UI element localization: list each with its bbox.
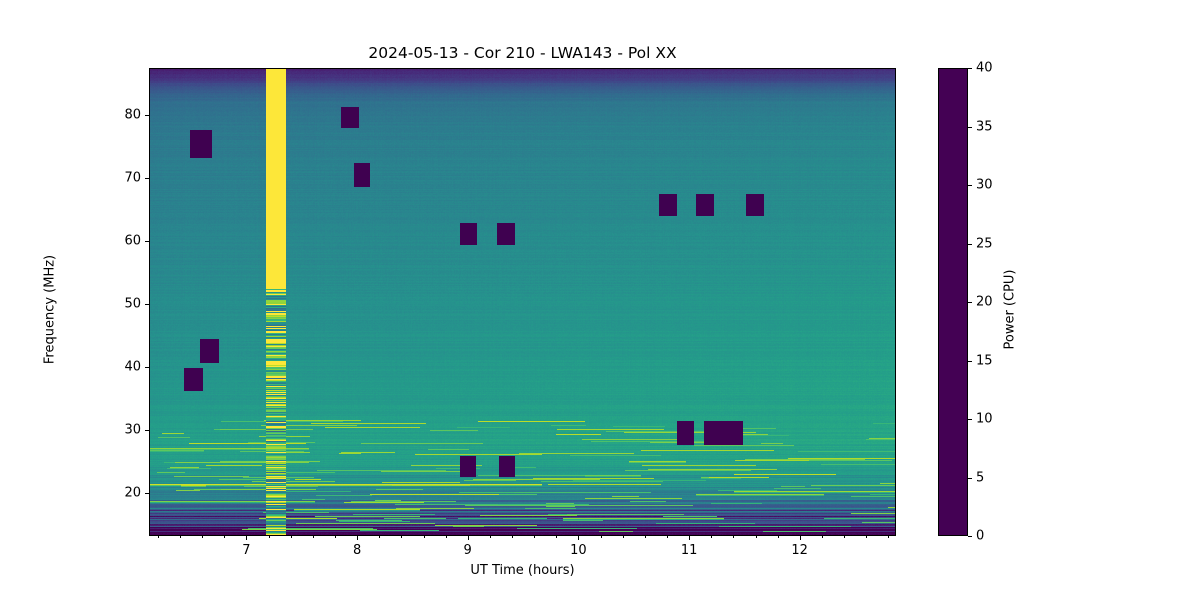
- x-minor-tick-mark: [291, 536, 292, 538]
- heatmap-image: [150, 69, 896, 536]
- x-minor-tick-mark: [335, 536, 336, 538]
- y-tick-mark: [145, 304, 149, 305]
- colorbar-tick-label: 15: [976, 353, 993, 368]
- y-tick-label: 60: [124, 234, 141, 249]
- x-minor-tick-mark: [446, 536, 447, 538]
- colorbar-tick-mark: [968, 478, 972, 479]
- y-tick-label: 30: [124, 423, 141, 438]
- y-tick-mark: [145, 115, 149, 116]
- y-tick-label: 80: [124, 108, 141, 123]
- x-minor-tick-mark: [357, 536, 358, 538]
- y-tick-label: 40: [124, 360, 141, 375]
- x-minor-tick-mark: [711, 536, 712, 538]
- colorbar-tick-mark: [968, 361, 972, 362]
- x-tick-label: 11: [681, 543, 698, 558]
- x-minor-tick-mark: [224, 536, 225, 538]
- x-minor-tick-mark: [269, 536, 270, 538]
- x-minor-tick-mark: [313, 536, 314, 538]
- colorbar-gradient: [939, 69, 968, 536]
- y-tick-mark: [145, 178, 149, 179]
- x-tick-label: 7: [242, 543, 250, 558]
- figure-canvas: 2024-05-13 - Cor 210 - LWA143 - Pol XX 2…: [0, 0, 1200, 600]
- x-minor-tick-mark: [158, 536, 159, 538]
- x-axis-label: UT Time (hours): [149, 563, 896, 578]
- colorbar-tick-label: 20: [976, 295, 993, 310]
- y-tick-mark: [145, 493, 149, 494]
- colorbar-tick-label: 25: [976, 236, 993, 251]
- x-minor-tick-mark: [778, 536, 779, 538]
- x-minor-tick-mark: [689, 536, 690, 538]
- colorbar-tick-mark: [968, 244, 972, 245]
- x-minor-tick-mark: [202, 536, 203, 538]
- x-minor-tick-mark: [180, 536, 181, 538]
- colorbar-tick-label: 5: [976, 470, 984, 485]
- x-tick-label: 10: [570, 543, 587, 558]
- x-minor-tick-mark: [556, 536, 557, 538]
- x-minor-tick-mark: [844, 536, 845, 538]
- x-minor-tick-mark: [512, 536, 513, 538]
- colorbar-tick-mark: [968, 536, 972, 537]
- y-tick-mark: [145, 241, 149, 242]
- spectrogram-plot-area[interactable]: [149, 68, 896, 536]
- y-axis-label: Frequency (MHz): [43, 170, 58, 450]
- x-minor-tick-mark: [578, 536, 579, 538]
- colorbar-tick-mark: [968, 419, 972, 420]
- y-tick-mark: [145, 430, 149, 431]
- x-minor-tick-mark: [246, 536, 247, 538]
- colorbar-label: Power (CPU): [1003, 170, 1018, 450]
- colorbar-tick-mark: [968, 302, 972, 303]
- y-tick-label: 70: [124, 171, 141, 186]
- x-tick-label: 8: [353, 543, 361, 558]
- colorbar[interactable]: [938, 68, 968, 536]
- x-minor-tick-mark: [800, 536, 801, 538]
- x-minor-tick-mark: [888, 536, 889, 538]
- x-minor-tick-mark: [534, 536, 535, 538]
- x-minor-tick-mark: [490, 536, 491, 538]
- colorbar-tick-label: 0: [976, 529, 984, 544]
- x-minor-tick-mark: [379, 536, 380, 538]
- x-tick-label: 9: [464, 543, 472, 558]
- x-minor-tick-mark: [468, 536, 469, 538]
- colorbar-tick-mark: [968, 127, 972, 128]
- x-minor-tick-mark: [623, 536, 624, 538]
- y-tick-label: 50: [124, 297, 141, 312]
- x-minor-tick-mark: [601, 536, 602, 538]
- page-title: 2024-05-13 - Cor 210 - LWA143 - Pol XX: [149, 44, 896, 62]
- colorbar-tick-label: 35: [976, 119, 993, 134]
- y-tick-mark: [145, 367, 149, 368]
- x-minor-tick-mark: [822, 536, 823, 538]
- x-minor-tick-mark: [645, 536, 646, 538]
- y-tick-label: 20: [124, 486, 141, 501]
- x-minor-tick-mark: [667, 536, 668, 538]
- colorbar-tick-mark: [968, 185, 972, 186]
- x-minor-tick-mark: [733, 536, 734, 538]
- x-minor-tick-mark: [424, 536, 425, 538]
- x-minor-tick-mark: [866, 536, 867, 538]
- x-minor-tick-mark: [756, 536, 757, 538]
- colorbar-tick-label: 30: [976, 178, 993, 193]
- x-tick-label: 12: [791, 543, 808, 558]
- colorbar-tick-mark: [968, 68, 972, 69]
- colorbar-tick-label: 10: [976, 412, 993, 427]
- x-minor-tick-mark: [401, 536, 402, 538]
- colorbar-tick-label: 40: [976, 61, 993, 76]
